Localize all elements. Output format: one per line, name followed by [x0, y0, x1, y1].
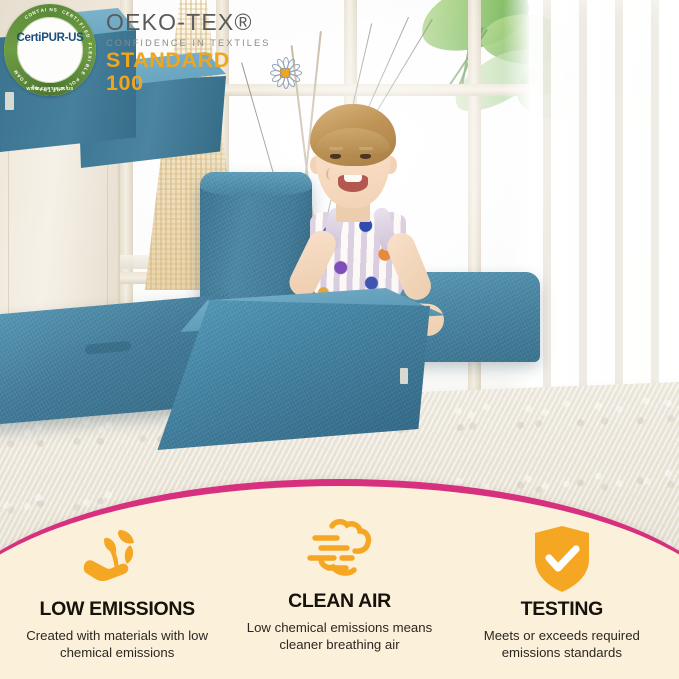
- benefit-body: Created with materials with low chemical…: [15, 627, 220, 662]
- child-mouth: [338, 175, 368, 192]
- arc-char: [57, 8, 60, 13]
- oeko-tex-standard: STANDARD 100: [106, 49, 262, 94]
- child-cheek: [326, 168, 336, 180]
- shield-check-icon: [531, 522, 593, 596]
- arc-char: I: [86, 59, 91, 62]
- arc-char: E: [88, 51, 93, 55]
- product-fabric-tag: [400, 368, 408, 384]
- benefit-title: CLEAN AIR: [288, 592, 391, 612]
- certipur-us-badge: CONTAINS CERTIFIED FLEXIBLE POLYURETHANE…: [4, 4, 96, 96]
- arc-char: [86, 38, 91, 41]
- arc-char: I: [45, 7, 47, 12]
- certipur-arc-text: CONTAINS CERTIFIED FLEXIBLE POLYURETHANE…: [4, 4, 96, 96]
- benefit-body: Meets or exceeds required emissions stan…: [459, 627, 664, 662]
- certification-badges: CONTAINS CERTIFIED FLEXIBLE POLYURETHANE…: [0, 0, 300, 96]
- benefit-title: LOW EMISSIONS: [39, 600, 194, 620]
- child-eyebrow: [359, 147, 373, 150]
- child-eyebrow: [329, 147, 343, 150]
- foam-handle: [85, 341, 131, 355]
- oeko-tex-subtitle: CONFIDENCE IN TEXTILES: [106, 38, 300, 48]
- arc-char: L: [88, 47, 93, 50]
- child-eye: [330, 154, 341, 159]
- benefit-column-low-emissions: LOW EMISSIONS Created with materials wit…: [6, 512, 228, 662]
- benefit-body: Low chemical emissions means cleaner bre…: [237, 619, 442, 654]
- certipur-url: WWW.CERTIPUR.US: [4, 86, 96, 91]
- benefit-column-testing: TESTING Meets or exceeds required emissi…: [451, 512, 673, 662]
- child-teeth: [344, 175, 362, 182]
- hand-holding-plant-icon: [81, 522, 153, 596]
- clean-air-breeze-icon: [302, 514, 376, 588]
- benefit-column-clean-air: CLEAN AIR Low chemical emissions means c…: [228, 512, 450, 654]
- child-eye: [360, 154, 371, 159]
- arc-char: F: [87, 42, 92, 46]
- oeko-tex-title: OEKO-TEX®: [106, 11, 300, 34]
- product-infographic: CONTAINS CERTIFIED FLEXIBLE POLYURETHANE…: [0, 0, 679, 679]
- oeko-tex-badge: OEKO-TEX® CONFIDENCE IN TEXTILES STANDAR…: [106, 5, 300, 94]
- window-mullion: [468, 0, 481, 455]
- benefits-banner: LOW EMISSIONS Created with materials wit…: [0, 479, 679, 679]
- benefit-title: TESTING: [521, 600, 603, 620]
- arc-char: F: [23, 79, 28, 85]
- oekotex-flower-icon: [270, 58, 300, 88]
